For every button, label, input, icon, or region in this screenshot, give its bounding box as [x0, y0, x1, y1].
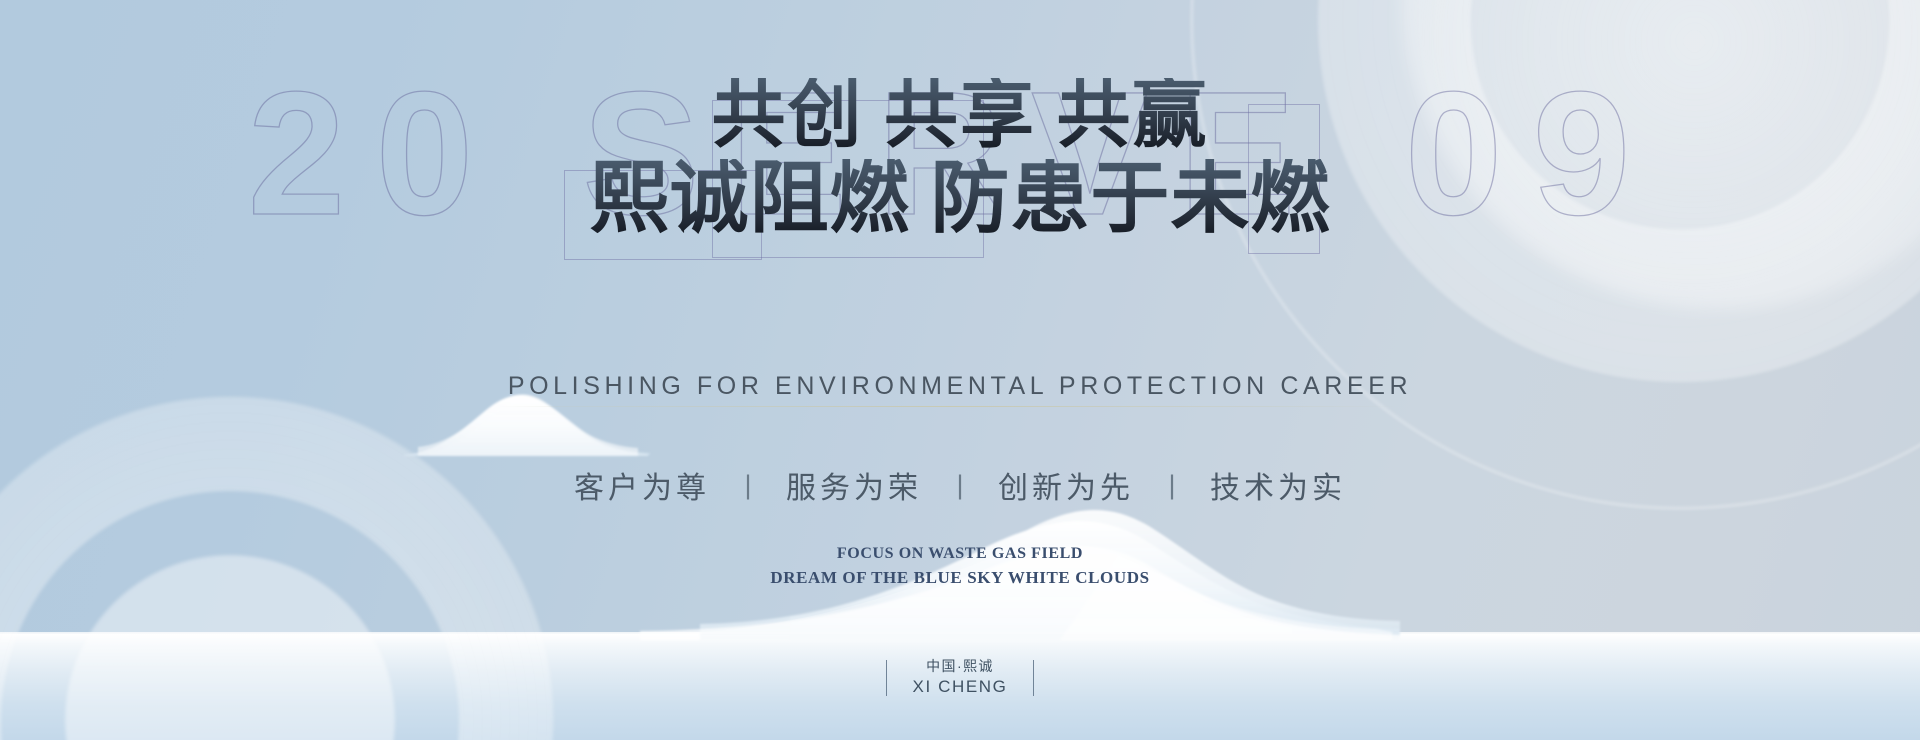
- signature-cn: 中国·熙诚: [913, 657, 1008, 676]
- glow-highlight-top-right: [1400, 0, 1920, 310]
- signature-divider-left: [886, 660, 887, 696]
- signature-divider-right: [1033, 660, 1034, 696]
- concentric-rings-icon-bottom-left: [0, 370, 580, 740]
- values-row: 客户为尊 | 服务为荣 | 创新为先 | 技术为实: [0, 463, 1920, 507]
- ghost-rect-1: [712, 100, 984, 258]
- value-separator-2: |: [922, 470, 998, 501]
- signature-en: XI CHENG: [913, 676, 1008, 698]
- subtitle-rule: [496, 406, 1401, 407]
- mini-serif-line-1: FOCUS ON WASTE GAS FIELD: [0, 543, 1920, 566]
- ground-plane: [0, 634, 1920, 740]
- value-item-4: 技术为实: [1210, 463, 1346, 507]
- mini-serif-block: FOCUS ON WASTE GAS FIELD DREAM OF THE BL…: [0, 543, 1920, 590]
- cloud-mountain-icon-left: [404, 394, 650, 456]
- ghost-rect-2: [564, 170, 762, 260]
- value-item-1: 客户为尊: [574, 463, 710, 507]
- cloud-mountain-group: [0, 0, 1920, 740]
- ground-edge: [0, 632, 1920, 635]
- headline-line-1: 共创 共享 共赢: [0, 78, 1920, 155]
- subtitle-english: POLISHING FOR ENVIRONMENTAL PROTECTION C…: [0, 372, 1920, 401]
- headline-line-2: 熙诚阻燃 防患于未燃: [0, 159, 1920, 241]
- value-item-2: 服务为荣: [786, 463, 922, 507]
- banner-canvas: 20 SERVE 09 共创 共享 共赢 熙诚阻燃 防患于未燃 POLISHIN…: [0, 0, 1920, 740]
- signature-block: 中国·熙诚 XI CHENG: [0, 657, 1920, 698]
- headline: 共创 共享 共赢 熙诚阻燃 防患于未燃: [0, 78, 1920, 241]
- concentric-rings-icon-top-right: [1190, 0, 1920, 510]
- value-item-3: 创新为先: [998, 463, 1134, 507]
- signature-text: 中国·熙诚 XI CHENG: [913, 657, 1008, 698]
- value-separator-3: |: [1134, 470, 1210, 501]
- ghost-rect-3: [1248, 104, 1320, 254]
- cloud-wisp-icon: [660, 544, 1292, 634]
- cloud-mountain-icon-right: [640, 510, 1400, 640]
- ghost-outline-text: 20 SERVE 09: [0, 66, 1914, 242]
- mini-serif-line-2: DREAM OF THE BLUE SKY WHITE CLOUDS: [0, 566, 1920, 590]
- value-separator-1: |: [710, 470, 786, 501]
